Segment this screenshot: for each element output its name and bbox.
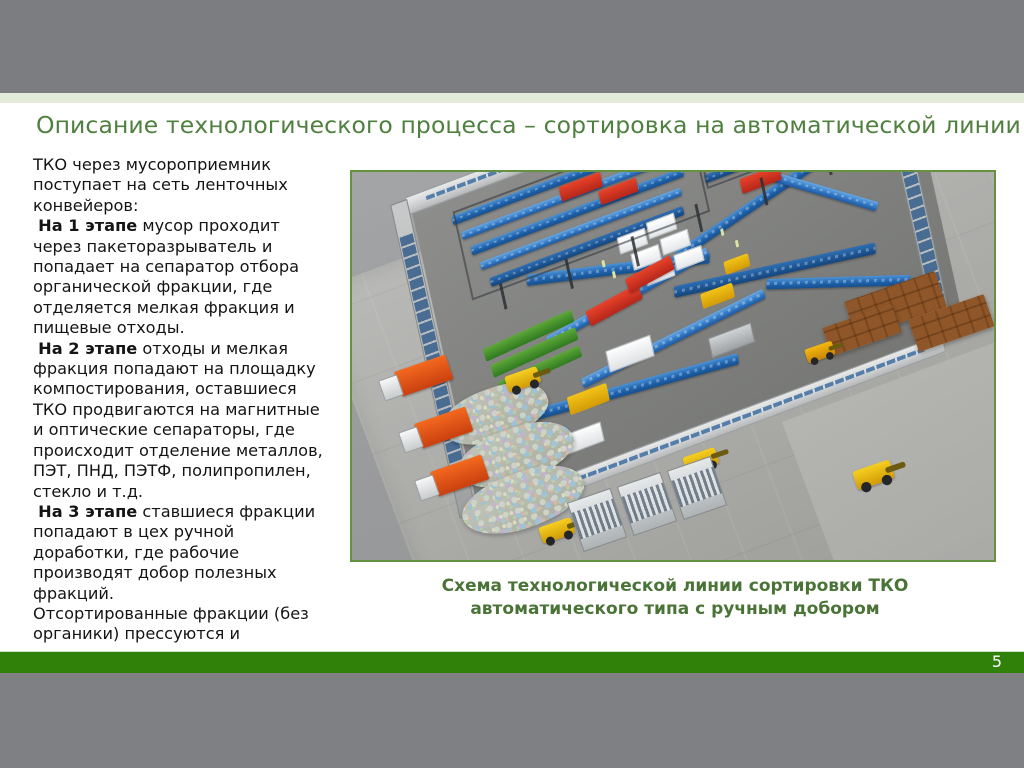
paragraph-intro: ТКО через мусороприемник поступает на се… xyxy=(33,155,333,216)
slide-stage: Описание технологического процесса – сор… xyxy=(0,0,1024,768)
slide-canvas: Описание технологического процесса – сор… xyxy=(0,93,1024,673)
render-scene xyxy=(352,172,994,560)
paragraph-stage-3: На 3 этапе ставшиеся фракции попадают в … xyxy=(33,502,333,604)
footer-bar: 5 xyxy=(0,651,1024,673)
plant-render-image xyxy=(350,170,996,562)
letterbox-bottom xyxy=(0,673,1024,768)
figure-caption: Схема технологической линии сортировки Т… xyxy=(360,575,990,621)
green-separator xyxy=(804,170,868,171)
red-machine xyxy=(722,170,766,171)
stage-1-lead: На 1 этапе xyxy=(38,216,137,235)
page-title: Описание технологического процесса – сор… xyxy=(36,111,996,139)
figure-caption-line-2: автоматического типа с ручным добором xyxy=(360,598,990,621)
figure-caption-line-1: Схема технологической линии сортировки Т… xyxy=(360,575,990,598)
page-number: 5 xyxy=(992,652,1002,671)
process-description-text: ТКО через мусороприемник поступает на се… xyxy=(33,155,333,673)
letterbox-top xyxy=(0,0,1024,93)
footer-hairline xyxy=(0,651,1024,652)
paragraph-intro-text: ТКО через мусороприемник поступает на се… xyxy=(33,155,288,215)
stage-3-lead: На 3 этапе xyxy=(38,502,137,521)
paragraph-stage-1: На 1 этапе мусор проходит через пакетора… xyxy=(33,216,333,338)
paragraph-stage-2: На 2 этапе отходы и мелкая фракция попад… xyxy=(33,339,333,502)
slide-top-accent-band xyxy=(0,93,1024,103)
stage-2-lead: На 2 этапе xyxy=(38,339,137,358)
stage-2-text: отходы и мелкая фракция попадают на площ… xyxy=(33,339,323,501)
